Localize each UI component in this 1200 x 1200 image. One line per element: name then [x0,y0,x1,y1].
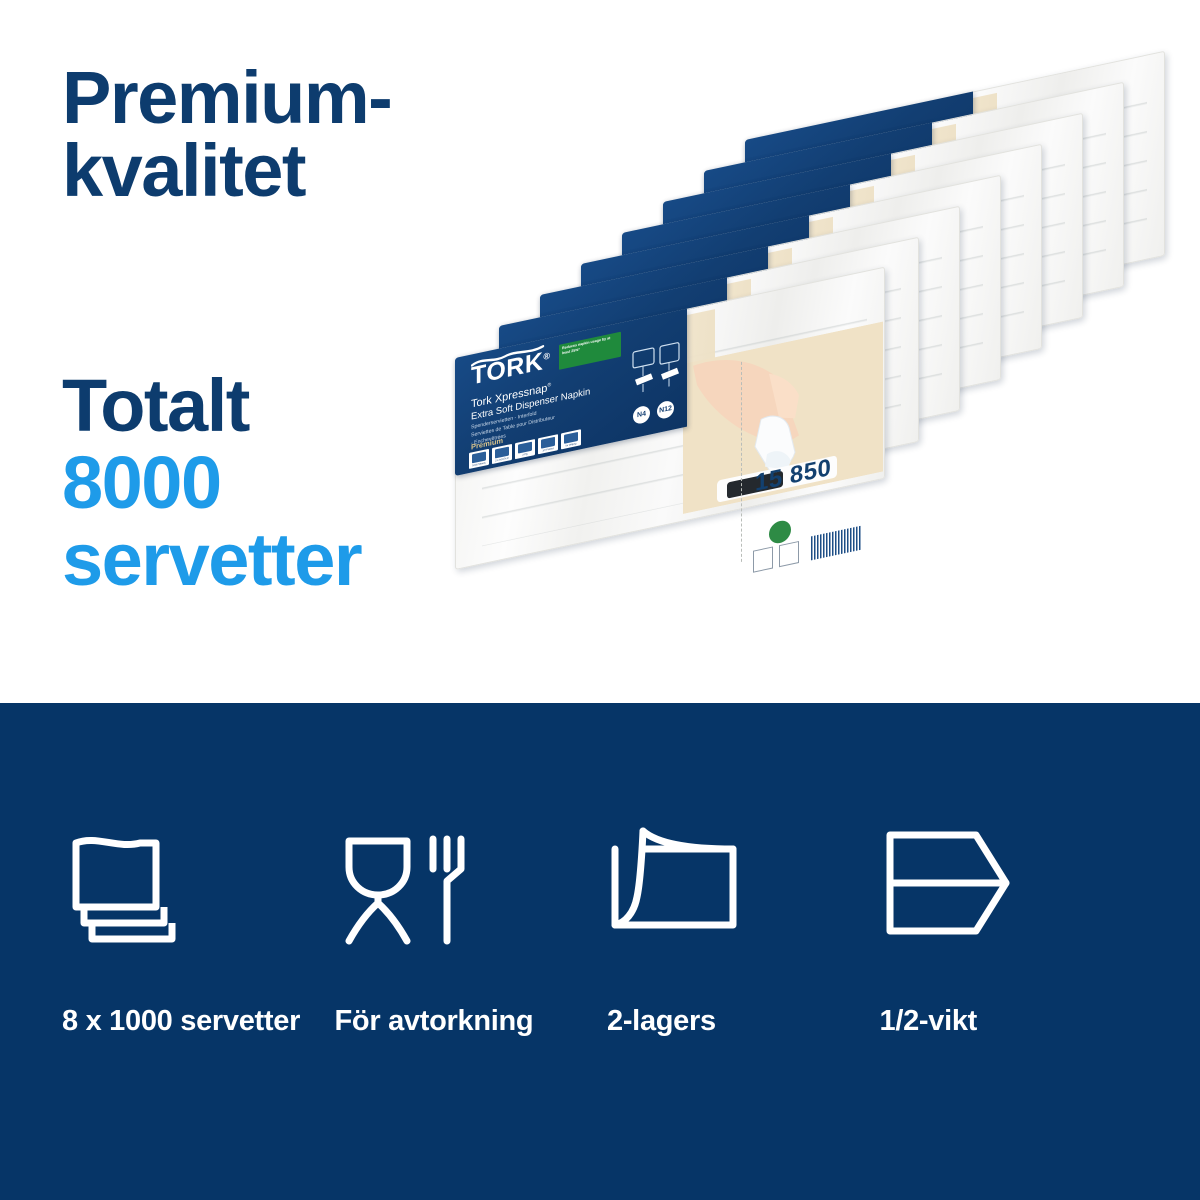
headline-line-2: kvalitet [62,135,492,208]
dispenser-system-badge-n4: N4 [633,405,650,426]
glass-fork-food-safe-icon [335,818,608,968]
ply-icon: 2 Ply [515,439,535,459]
feature-band: 8 x 1000 servetter För avtorkning [0,703,1200,1200]
product-stack-image: 15 850 15 850 15 850 15 850 15 850 [455,140,1175,570]
headline-block: Premium- kvalitet [62,62,492,207]
hero-section: Premium- kvalitet Totalt 8000 servetter … [0,0,1200,703]
feature-item: 8 x 1000 servetter [62,818,335,1039]
pack-seam-line [741,362,742,562]
tork-logo-text: TORK [471,347,543,390]
fold-icon: 1/2 Folded [538,434,558,454]
sheet-dimension-icon: 21.3x16.5cm [492,444,512,464]
total-count: 8000 [62,445,522,522]
feature-item: För avtorkning [335,818,608,1039]
napkin-stack-icon [62,818,335,968]
feature-label: 2-lagers [607,1004,857,1039]
feature-label: 1/2-vikt [880,1004,1130,1039]
barcode [811,526,861,561]
sheet-size-icon: 5200 Sheets [469,449,489,469]
feature-label: För avtorkning [335,1004,585,1039]
feature-item: 2-lagers [607,818,880,1039]
feature-label: 8 x 1000 servetter [62,1004,312,1039]
certification-marks [747,502,867,576]
recycling-seal-icon [769,519,791,546]
eco-claim-text: Reduces napkin usage by at least 25%* [562,334,618,356]
dispenser-system-badge-n12: N12 [657,399,674,420]
tork-logo-reg: ® [543,350,550,362]
dispenser-diagram-icon [631,340,683,405]
total-unit: servetter [62,522,522,599]
feature-list: 8 x 1000 servetter För avtorkning [62,818,1152,1039]
wiping-icon: for Wiping [561,429,581,449]
total-block: Totalt 8000 servetter [62,368,522,599]
eco-claim-badge: Reduces napkin usage by at least 25%* [559,332,621,370]
feature-item: 1/2-vikt [880,818,1153,1039]
two-ply-sheet-icon [607,818,880,968]
fsc-logo-icon [753,546,773,572]
product-pack-front: TORK® Reduces napkin usage by at least 2… [455,358,875,563]
total-label: Totalt [62,368,522,445]
disposal-logo-icon [779,541,799,567]
product-name-reg: ® [547,382,551,389]
headline-line-1: Premium- [62,62,492,135]
half-fold-icon [880,818,1153,968]
